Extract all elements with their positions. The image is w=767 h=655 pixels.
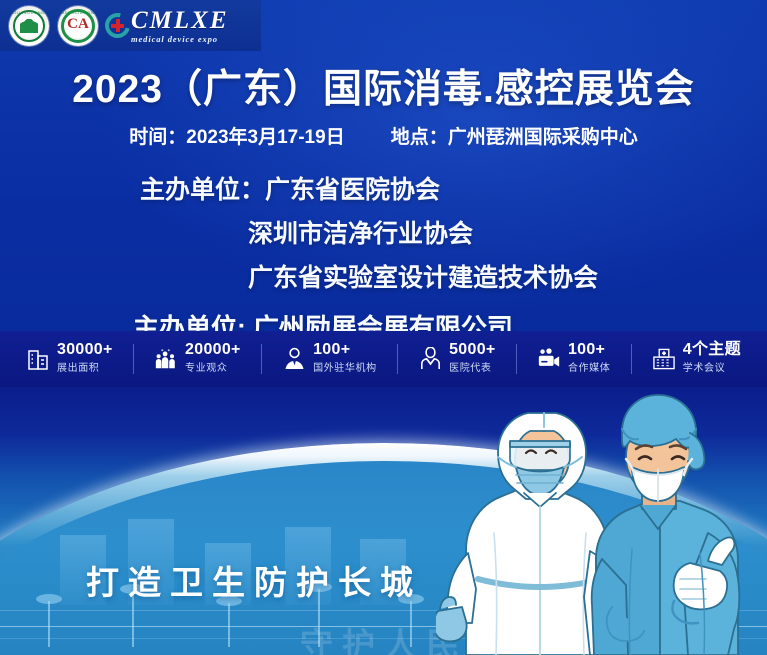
expo-poster: GUANGDONG ASSOCIATION CA CMLXE medical d… [0, 0, 767, 655]
header-logo-band: GUANGDONG ASSOCIATION CA CMLXE medical d… [0, 0, 261, 51]
stat-divider [516, 344, 517, 374]
brand-logo: CMLXE medical device expo [105, 8, 229, 44]
organizer-line-3: 广东省实验室设计建造技术协会 [0, 258, 767, 294]
stat-item-professional-visitors: 20000+ 专业观众 [154, 342, 241, 376]
stat-label: 国外驻华机构 [313, 363, 377, 374]
stat-divider [133, 344, 134, 374]
stat-item-foreign-institutions: 100+ 国外驻华机构 [282, 342, 377, 376]
organizer-block: 主办单位：广东省医院协会 深圳市洁净行业协会 广东省实验室设计建造技术协会 主办… [0, 170, 767, 345]
street-lamp-icon [228, 603, 230, 647]
building-icon [26, 346, 50, 372]
stat-label: 专业观众 [185, 363, 227, 374]
association-seal-green-icon: GUANGDONG [9, 6, 49, 46]
stat-label: 合作媒体 [568, 363, 610, 374]
association-seal-ca-icon: ASSOCIATION CA [58, 6, 98, 46]
stat-number: 100+ [568, 341, 605, 358]
stat-divider [631, 344, 632, 374]
page-title: 2023（广东）国际消毒.感控展览会 [0, 58, 767, 114]
stat-item-exhibition-area: 30000+ 展出面积 [26, 342, 113, 376]
brand-tagline: medical device expo [131, 35, 229, 44]
stat-label: 展出面积 [57, 363, 99, 374]
stat-number: 100+ [313, 341, 350, 358]
stat-label: 医院代表 [449, 363, 491, 374]
event-date: 时间：2023年3月17-19日 [129, 122, 344, 149]
stat-divider [397, 344, 398, 374]
doctor-icon [418, 346, 442, 372]
brand-name: CMLXE [131, 8, 229, 33]
stat-number: 5000+ [449, 341, 495, 358]
stat-label: 学术会议 [683, 363, 725, 374]
organizer-line-1: 主办单位：广东省医院协会 [0, 170, 767, 206]
event-venue: 地点：广州琵洲国际采购中心 [391, 122, 638, 149]
stat-divider [261, 344, 262, 374]
stat-item-academic-themes: 4个主题 学术会议 [652, 342, 741, 376]
street-lamp-icon [48, 601, 50, 647]
stat-number: 4个主题 [683, 341, 741, 358]
event-meta: 时间：2023年3月17-19日 地点：广州琵洲国际采购中心 [0, 122, 767, 149]
person-tie-icon [282, 346, 306, 372]
organizer-line-2: 深圳市洁净行业协会 [0, 214, 767, 250]
stat-item-hospital-delegates: 5000+ 医院代表 [418, 342, 495, 376]
stat-item-media-partners: 100+ 合作媒体 [537, 342, 610, 376]
crowd-icon [154, 346, 178, 372]
g-cross-mark-icon [105, 13, 130, 38]
video-camera-icon [537, 346, 561, 372]
stats-bar: 30000+ 展出面积 20000+ 专业观众 [0, 331, 767, 387]
hospital-icon [652, 346, 676, 372]
primary-slogan: 打造卫生防护长城 [86, 556, 422, 604]
medical-workers-illustration [436, 383, 767, 655]
seal-ca-label: CA [58, 17, 98, 32]
stat-number: 20000+ [185, 341, 241, 358]
stat-number: 30000+ [57, 341, 113, 358]
